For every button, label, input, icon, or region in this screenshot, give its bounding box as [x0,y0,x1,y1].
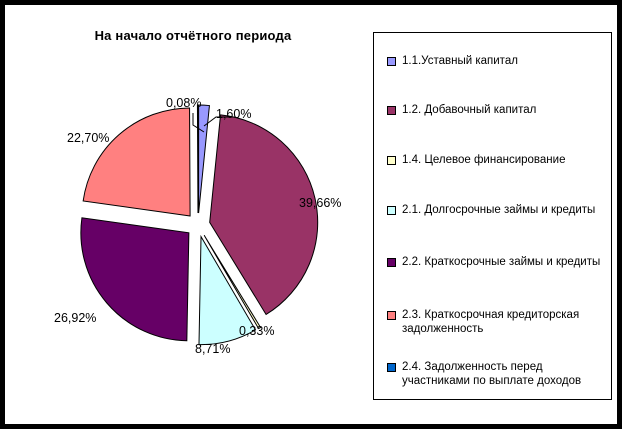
pie-chart-svg [5,5,365,424]
legend-item[interactable]: 2.4. Задолженность перед участниками по … [387,360,607,388]
legend-item-label: 2.3. Краткосрочная кредиторская задолжен… [402,308,607,336]
legend-item-label: 2.2. Краткосрочные займы и кредиты [402,255,600,269]
pie-slice[interactable] [199,105,210,213]
legend-item-label: 1.1.Уставный капитал [402,54,518,68]
slice-label-0-33: 0,33% [239,324,274,338]
pie-slice[interactable] [81,218,189,341]
legend-item[interactable]: 2.1. Долгосрочные займы и кредиты [387,203,607,217]
legend-swatch-icon [387,156,396,165]
pie-slice[interactable] [83,108,190,216]
legend-item[interactable]: 1.2. Добавочный капитал [387,103,607,117]
slice-label-26-92: 26,92% [54,311,96,325]
legend-swatch-icon [387,258,396,267]
legend-item-label: 1.2. Добавочный капитал [402,103,536,117]
legend-item[interactable]: 2.3. Краткосрочная кредиторская задолжен… [387,308,607,336]
legend: 1.1.Уставный капитал1.2. Добавочный капи… [373,32,612,400]
slice-label-1-60: 1,60% [216,107,251,121]
legend-swatch-icon [387,106,396,115]
legend-swatch-icon [387,206,396,215]
legend-swatch-icon [387,57,396,66]
legend-item-label: 1.4. Целевое финансирование [402,153,565,167]
slice-label-39-66: 39,66% [299,196,341,210]
legend-item-label: 2.4. Задолженность перед участниками по … [402,360,607,388]
slice-label-0-08: 0,08% [166,96,201,110]
legend-item[interactable]: 1.1.Уставный капитал [387,54,607,68]
legend-item-label: 2.1. Долгосрочные займы и кредиты [402,203,595,217]
legend-swatch-icon [387,363,396,372]
chart-frame: На начало отчётного периода 0,08% 1,60% … [0,0,622,429]
pie-chart-plot-area: 0,08% 1,60% 22,70% 39,66% 26,92% 0,33% 8… [5,5,365,424]
slice-label-22-70: 22,70% [67,131,109,145]
slice-label-8-71: 8,71% [195,342,230,356]
legend-swatch-icon [387,311,396,320]
pie-slices-group [81,105,318,345]
pie-slice[interactable] [197,105,198,213]
legend-item[interactable]: 1.4. Целевое финансирование [387,153,607,167]
legend-item[interactable]: 2.2. Краткосрочные займы и кредиты [387,255,607,269]
